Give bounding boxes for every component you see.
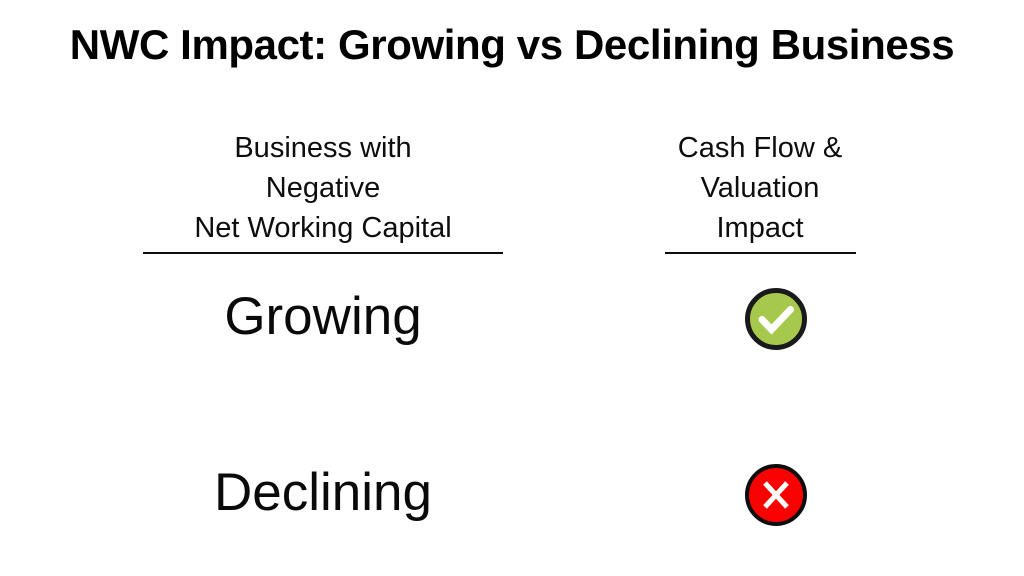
- page-title: NWC Impact: Growing vs Declining Busines…: [0, 18, 1024, 72]
- column-header-line-2: Valuation: [600, 168, 920, 208]
- column-header-underline: [143, 252, 503, 254]
- column-header-line-3: Impact: [600, 208, 920, 248]
- column-header-underline: [665, 252, 856, 254]
- row-label-growing: Growing: [93, 286, 553, 348]
- column-header-business-nwc: Business with Negative Net Working Capit…: [93, 128, 553, 254]
- column-header-cash-flow-valuation: Cash Flow & Valuation Impact: [600, 128, 920, 254]
- column-header-line-3: Net Working Capital: [93, 208, 553, 248]
- column-header-line-2: Negative: [93, 168, 553, 208]
- column-header-line-1: Business with: [93, 128, 553, 168]
- check-circle-icon: [744, 287, 808, 351]
- cross-circle-icon: [744, 463, 808, 527]
- row-label-declining: Declining: [93, 462, 553, 524]
- slide-canvas: NWC Impact: Growing vs Declining Busines…: [0, 0, 1024, 576]
- column-header-line-1: Cash Flow &: [600, 128, 920, 168]
